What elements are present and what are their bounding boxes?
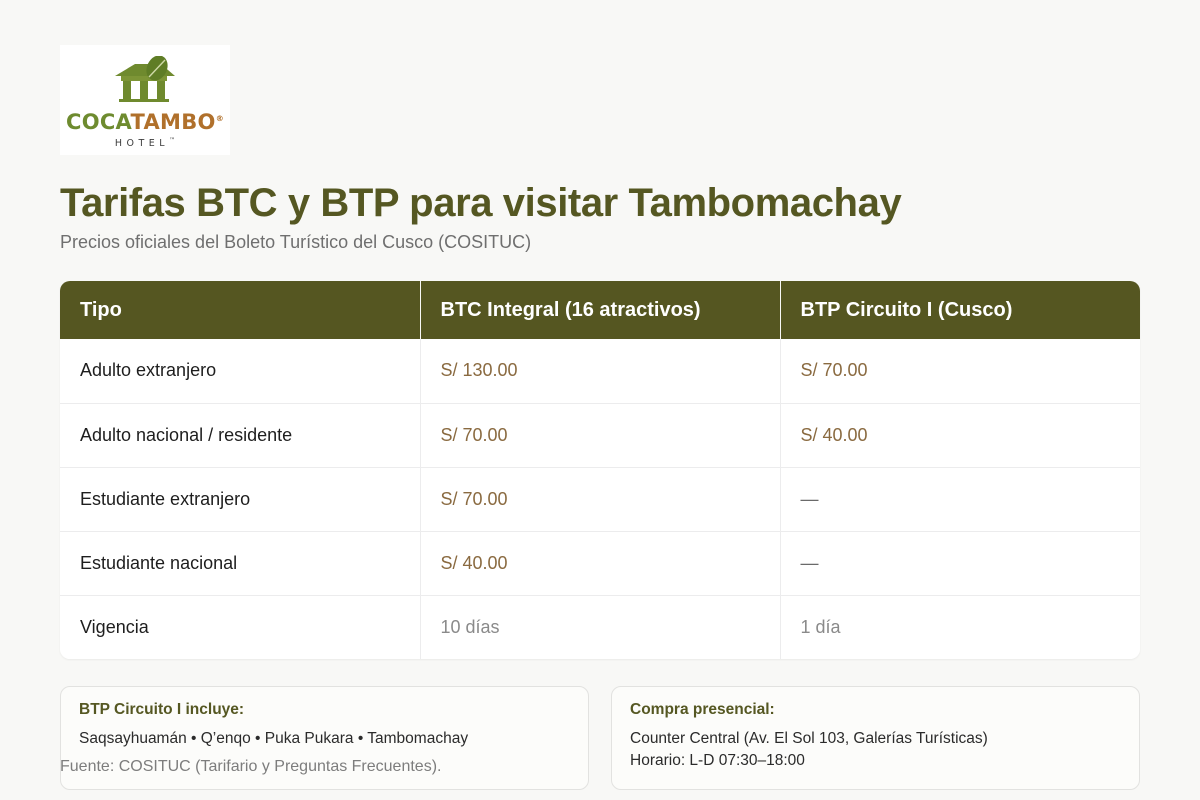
row-label: Adulto extranjero — [60, 339, 420, 403]
table-row: Estudiante extranjero S/ 70.00 — — [60, 467, 1140, 531]
card-body: Saqsayhuamán • Q’enqo • Puka Pukara • Ta… — [79, 728, 570, 750]
card-title: Compra presencial: — [630, 701, 1121, 719]
row-btp-value: 1 día — [780, 595, 1140, 659]
table-row: Adulto nacional / residente S/ 70.00 S/ … — [60, 403, 1140, 467]
page-subtitle: Precios oficiales del Boleto Turístico d… — [60, 232, 531, 253]
table-body: Adulto extranjero S/ 130.00 S/ 70.00 Adu… — [60, 339, 1140, 659]
trademark-mark-icon: ™ — [169, 137, 175, 144]
table-header-row: Tipo BTC Integral (16 atractivos) BTP Ci… — [60, 281, 1140, 339]
row-label: Vigencia — [60, 595, 420, 659]
tambo-hut-leaf-icon — [109, 56, 181, 104]
card-line: Counter Central (Av. El Sol 103, Galería… — [630, 728, 1121, 750]
card-compra-presencial: Compra presencial: Counter Central (Av. … — [611, 686, 1140, 790]
column-header-btp: BTP Circuito I (Cusco) — [780, 281, 1140, 339]
brand-wordmark-part2: TAMBO — [130, 110, 215, 134]
brand-wordmark-part1: COCA — [66, 110, 131, 134]
table-header: Tipo BTC Integral (16 atractivos) BTP Ci… — [60, 281, 1140, 339]
row-btc-value: 10 días — [420, 595, 780, 659]
page-title: Tarifas BTC y BTP para visitar Tambomach… — [60, 181, 901, 225]
card-body: Counter Central (Av. El Sol 103, Galería… — [630, 728, 1121, 773]
row-btp-value: — — [780, 467, 1140, 531]
registered-mark-icon: ® — [216, 114, 224, 123]
row-label: Estudiante nacional — [60, 531, 420, 595]
brand-subtext: HOTEL — [115, 138, 169, 149]
column-header-tipo: Tipo — [60, 281, 420, 339]
brand-subtext-row: HOTEL™ — [115, 138, 175, 149]
card-line: Saqsayhuamán • Q’enqo • Puka Pukara • Ta… — [79, 728, 570, 750]
table-row: Estudiante nacional S/ 40.00 — — [60, 531, 1140, 595]
row-btc-value: S/ 130.00 — [420, 339, 780, 403]
row-btp-value: S/ 70.00 — [780, 339, 1140, 403]
source-note: Fuente: COSITUC (Tarifario y Preguntas F… — [60, 758, 441, 776]
brand-wordmark: COCATAMBO® — [66, 112, 224, 133]
card-line: Horario: L-D 07:30–18:00 — [630, 750, 1121, 772]
row-btc-value: S/ 70.00 — [420, 403, 780, 467]
row-btc-value: S/ 40.00 — [420, 531, 780, 595]
table-row: Vigencia 10 días 1 día — [60, 595, 1140, 659]
row-label: Adulto nacional / residente — [60, 403, 420, 467]
row-btc-value: S/ 70.00 — [420, 467, 780, 531]
rates-table-container: Tipo BTC Integral (16 atractivos) BTP Ci… — [60, 281, 1140, 659]
rates-table: Tipo BTC Integral (16 atractivos) BTP Ci… — [60, 281, 1140, 659]
column-header-btc: BTC Integral (16 atractivos) — [420, 281, 780, 339]
row-btp-value: S/ 40.00 — [780, 403, 1140, 467]
row-btp-value: — — [780, 531, 1140, 595]
row-label: Estudiante extranjero — [60, 467, 420, 531]
brand-logo: COCATAMBO® HOTEL™ — [60, 45, 230, 155]
table-row: Adulto extranjero S/ 130.00 S/ 70.00 — [60, 339, 1140, 403]
page-root: COCATAMBO® HOTEL™ Tarifas BTC y BTP para… — [0, 0, 1200, 800]
card-title: BTP Circuito I incluye: — [79, 701, 570, 719]
